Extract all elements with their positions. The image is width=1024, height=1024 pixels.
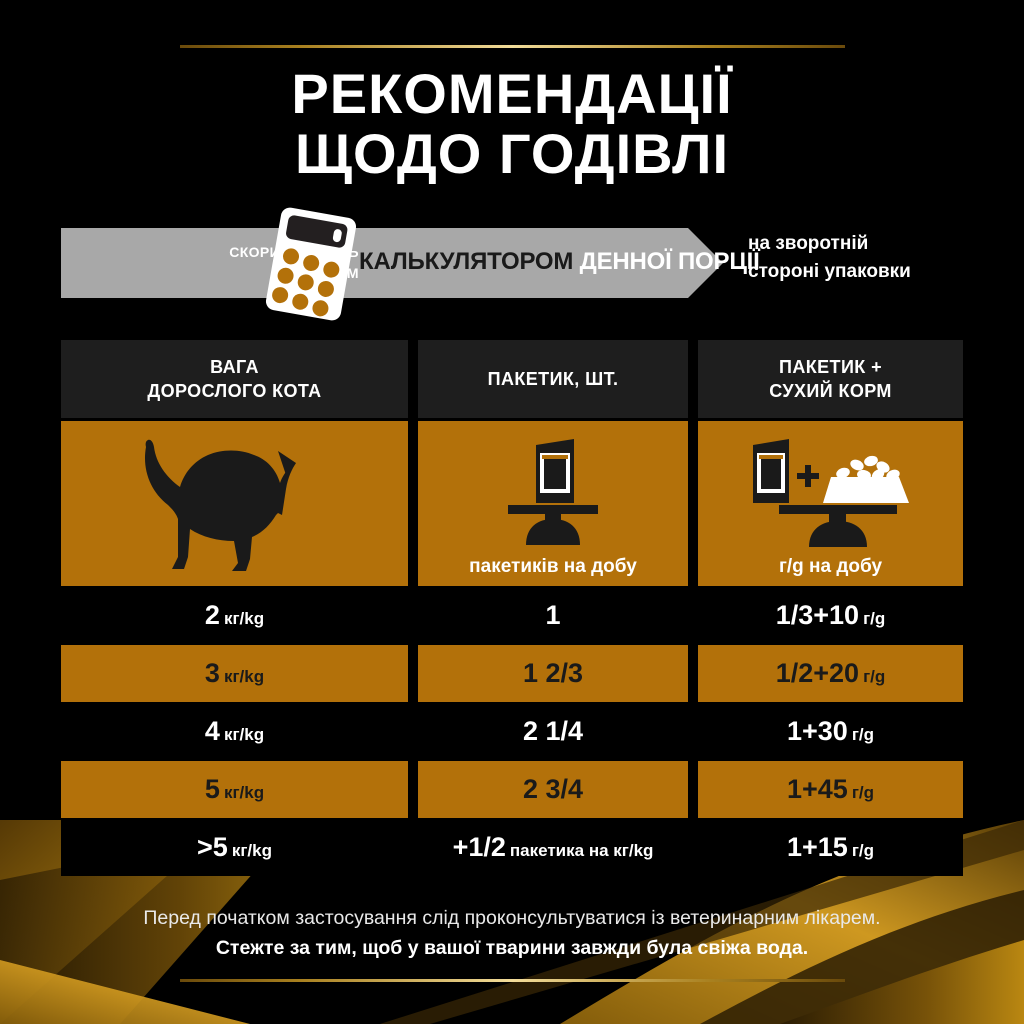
weight-unit: кг/kg	[232, 842, 272, 859]
pouches-value: 2 1/4	[523, 718, 583, 745]
pouches-value: +1/2	[453, 834, 506, 861]
header-mix: ПАКЕТИК + СУХИЙ КОРМ	[698, 340, 963, 418]
header-pouches-line-1: ПАКЕТИК, ШТ.	[488, 367, 619, 391]
cell-pouches: 2 3/4	[418, 761, 688, 818]
weight-unit: кг/kg	[224, 726, 264, 743]
cell-weight: 2кг/kg	[61, 587, 408, 644]
bottom-gold-divider	[180, 979, 845, 982]
cat-silhouette-icon	[110, 429, 360, 579]
table-row: 2кг/kg 1 1/3+10г/g	[61, 587, 963, 644]
weight-unit: кг/kg	[224, 610, 264, 627]
banner-main-black: КАЛЬКУЛЯТОРОМ	[359, 248, 573, 275]
cell-pouches: 1	[418, 587, 688, 644]
calculator-button	[311, 299, 330, 318]
calculator-banner[interactable]: СКОРИСТАЙТЕСЬ НАШИМ КАЛЬКУЛЯТОРОМ ДЕ	[61, 228, 723, 298]
table-row: 4кг/kg 2 1/4 1+30г/g	[61, 703, 963, 760]
mix-value: 1+45	[787, 776, 848, 803]
calculator-icon	[265, 206, 358, 322]
mix-unit: г/g	[852, 726, 874, 743]
calculator-button	[322, 260, 341, 279]
cell-mix: 1+15г/g	[698, 819, 963, 876]
weight-unit: кг/kg	[224, 668, 264, 685]
weight-value: 5	[205, 776, 220, 803]
header-mix-line-1: ПАКЕТИК +	[779, 355, 882, 379]
top-gold-divider	[180, 45, 845, 48]
cell-pouches: 2 1/4	[418, 703, 688, 760]
mix-unit: г/g	[852, 784, 874, 801]
calculator-body	[265, 206, 358, 322]
header-weight: ВАГА ДОРОСЛОГО КОТА	[61, 340, 408, 418]
cell-mix: 1+30г/g	[698, 703, 963, 760]
pouch-scale-cell: пакетиків на добу	[418, 421, 688, 586]
cell-weight: 3кг/kg	[61, 645, 408, 702]
pouches-value: 1 2/3	[523, 660, 583, 687]
weight-value: >5	[197, 834, 228, 861]
calculator-button	[276, 266, 295, 285]
cell-weight: 4кг/kg	[61, 703, 408, 760]
side-note-line-1: на зворотній	[748, 230, 1008, 258]
calculator-button	[291, 292, 310, 311]
mix-caption: г/g на добу	[698, 556, 963, 578]
calculator-button	[317, 280, 336, 299]
cell-pouches: 1 2/3	[418, 645, 688, 702]
feeding-guide-infographic: РЕКОМЕНДАЦІЇ ЩОДО ГОДІВЛІ СКОРИСТАЙТЕСЬ …	[0, 0, 1024, 1024]
cell-mix: 1/3+10г/g	[698, 587, 963, 644]
pouch-kibble-cell: г/g на добу	[698, 421, 963, 586]
cell-weight: >5кг/kg	[61, 819, 408, 876]
banner-main-text: КАЛЬКУЛЯТОРОМ ДЕННОЇ ПОРЦІЇ	[359, 248, 689, 276]
weight-unit: кг/kg	[224, 784, 264, 801]
pouches-unit: пакетика на кг/kg	[510, 842, 654, 859]
table-row: >5кг/kg +1/2пакетика на кг/kg 1+15г/g	[61, 819, 963, 876]
pouch-on-scale-icon	[478, 435, 628, 555]
pouches-value: 2 3/4	[523, 776, 583, 803]
footer-notes: Перед початком застосування слід проконс…	[0, 903, 1024, 963]
pouches-value: 1	[545, 602, 560, 629]
footer-line-2: Стежте за тим, щоб у вашої тварини завжд…	[0, 933, 1024, 963]
pouch-plus-kibble-bowl-icon	[731, 435, 931, 555]
banner-main-white: ДЕННОЇ ПОРЦІЇ	[580, 248, 760, 275]
weight-value: 2	[205, 602, 220, 629]
pouch-caption: пакетиків на добу	[418, 556, 688, 578]
page-title: РЕКОМЕНДАЦІЇ ЩОДО ГОДІВЛІ	[0, 64, 1024, 185]
mix-unit: г/g	[863, 610, 885, 627]
cell-mix: 1+45г/g	[698, 761, 963, 818]
header-weight-line-2: ДОРОСЛОГО КОТА	[147, 379, 321, 403]
mix-value: 1+15	[787, 834, 848, 861]
header-pouches: ПАКЕТИК, ШТ.	[418, 340, 688, 418]
calculator-button	[271, 286, 290, 305]
cell-mix: 1/2+20г/g	[698, 645, 963, 702]
header-mix-line-2: СУХИЙ КОРМ	[769, 379, 892, 403]
calculator-button	[296, 273, 315, 292]
calculator-screen	[285, 214, 348, 248]
cell-weight: 5кг/kg	[61, 761, 408, 818]
weight-value: 3	[205, 660, 220, 687]
mix-value: 1/3+10	[776, 602, 859, 629]
feeding-table: ВАГА ДОРОСЛОГО КОТА ПАКЕТИК, ШТ. ПАКЕТИК…	[61, 340, 963, 876]
table-icon-row: пакетиків на добу	[61, 421, 963, 586]
side-note: на зворотній стороні упаковки	[748, 230, 1008, 285]
calculator-button	[302, 254, 321, 273]
mix-value: 1/2+20	[776, 660, 859, 687]
calculator-screen-indicator	[332, 229, 342, 243]
table-row: 5кг/kg 2 3/4 1+45г/g	[61, 761, 963, 818]
footer-line-1: Перед початком застосування слід проконс…	[0, 903, 1024, 933]
cell-pouches: +1/2пакетика на кг/kg	[418, 819, 688, 876]
mix-unit: г/g	[852, 842, 874, 859]
cat-silhouette-cell	[61, 421, 408, 586]
title-line-2: ЩОДО ГОДІВЛІ	[0, 124, 1024, 184]
title-line-1: РЕКОМЕНДАЦІЇ	[291, 62, 732, 125]
mix-unit: г/g	[863, 668, 885, 685]
table-row: 3кг/kg 1 2/3 1/2+20г/g	[61, 645, 963, 702]
calculator-button	[282, 247, 301, 266]
header-weight-line-1: ВАГА	[210, 355, 259, 379]
mix-value: 1+30	[787, 718, 848, 745]
side-note-line-2: стороні упаковки	[748, 258, 1008, 286]
weight-value: 4	[205, 718, 220, 745]
table-header-row: ВАГА ДОРОСЛОГО КОТА ПАКЕТИК, ШТ. ПАКЕТИК…	[61, 340, 963, 418]
